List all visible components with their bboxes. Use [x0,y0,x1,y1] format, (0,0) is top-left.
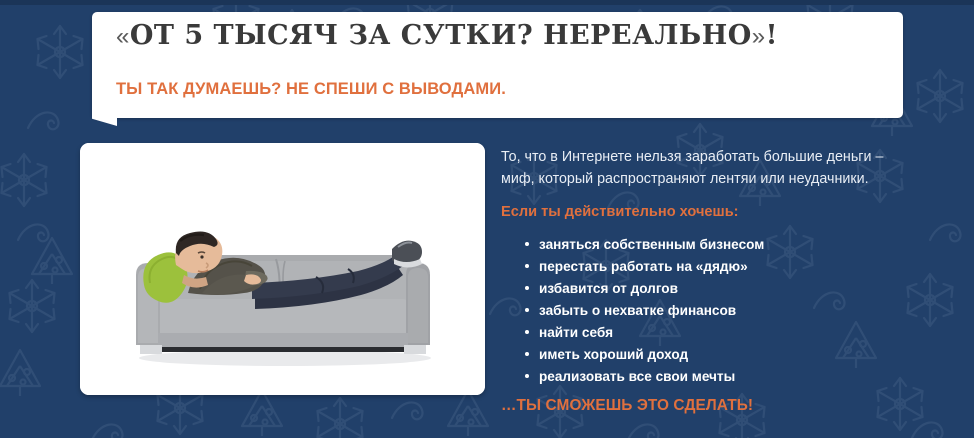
open-quote: « [116,23,130,50]
lead-line-1: То, что в Интернете нельзя заработать бо… [501,149,883,165]
closing-statement: …ТЫ СМОЖЕШЬ ЭТО СДЕЛАТЬ! [501,397,956,415]
list-item: перестать работать на «дядю» [539,256,956,278]
cta-question: Если ты действительно хочешь: [501,204,956,220]
list-item: забыть о нехватке финансов [539,300,956,322]
lead-line-2: миф, который распространяют лентяи или н… [501,171,869,187]
list-item: избавится от долгов [539,278,956,300]
man-on-sofa-illustration [80,143,485,395]
list-item: реализовать все свои мечты [539,366,956,388]
page-subtitle: ТЫ ТАК ДУМАЕШЬ? НЕ СПЕШИ С ВЫВОДАМИ. [116,80,506,99]
list-item: иметь хороший доход [539,344,956,366]
promo-banner: «ОТ 5 ТЫСЯЧ ЗА СУТКИ? НЕРЕАЛЬНО»! ТЫ ТАК… [0,0,974,438]
lead-paragraph: То, что в Интернете нельзя заработать бо… [501,146,956,190]
photo-card [80,143,485,395]
list-item: заняться собственным бизнесом [539,234,956,256]
list-item: найти себя [539,322,956,344]
wish-list: заняться собственным бизнесом перестать … [501,234,956,388]
top-accent-strip [0,0,974,5]
headline-exclamation: ! [766,20,778,51]
headline-text: ОТ 5 ТЫСЯЧ ЗА СУТКИ? НЕРЕАЛЬНО [130,20,752,51]
header-card-corner-tab [92,110,117,126]
copy-column: То, что в Интернете нельзя заработать бо… [501,146,956,415]
page-title: «ОТ 5 ТЫСЯЧ ЗА СУТКИ? НЕРЕАЛЬНО»! [116,20,778,51]
close-quote: » [752,23,766,50]
